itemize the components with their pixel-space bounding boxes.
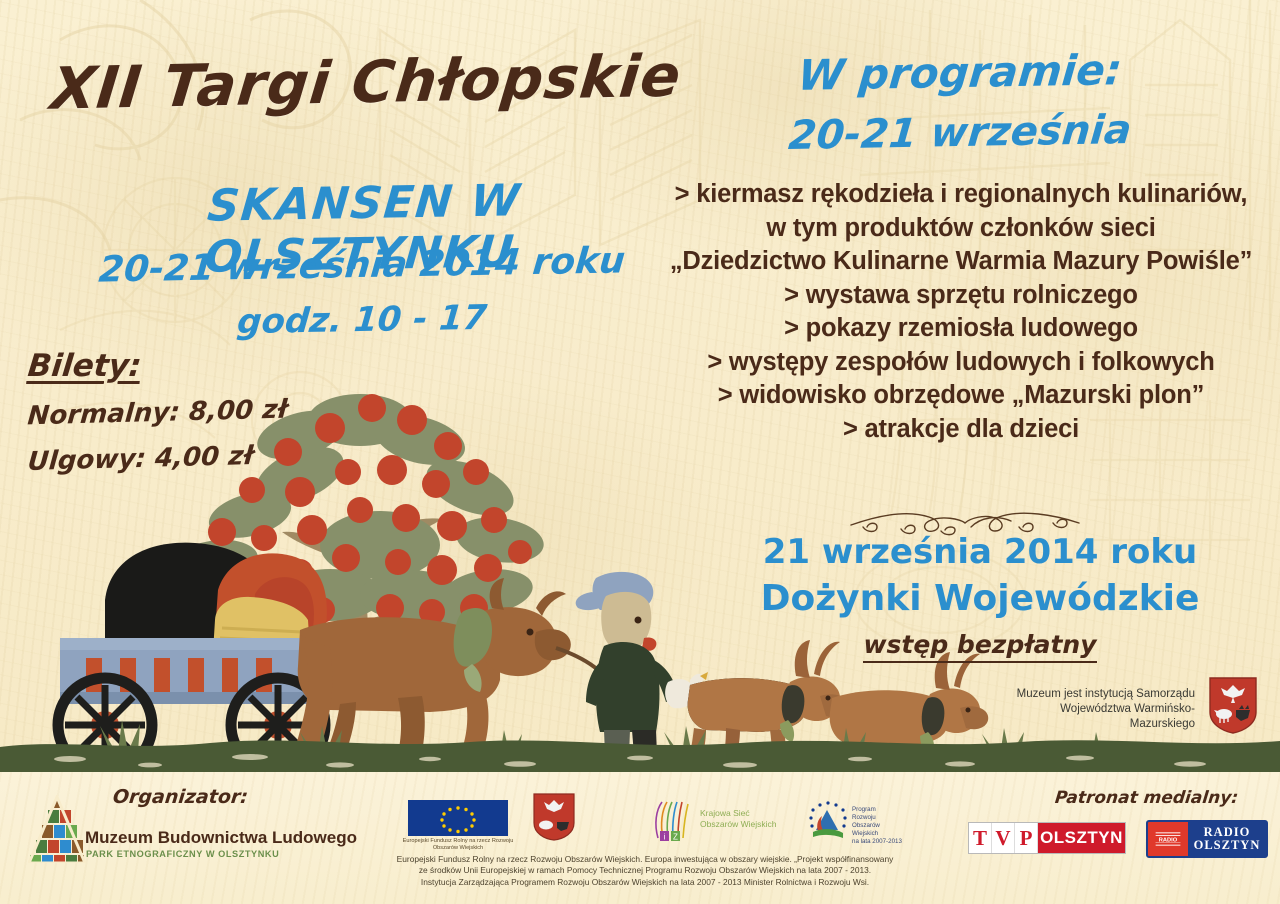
- free-entry-note: wstęp bezpłatny: [700, 630, 1260, 659]
- warmia-crest-footer-icon: [533, 793, 575, 841]
- institution-note: Muzeum jest instytucją Samorządu Wojewód…: [1005, 687, 1195, 732]
- program-item: > atrakcje dla dzieci: [655, 413, 1267, 447]
- program-list: > kiermasz rękodzieła i regionalnych kul…: [655, 178, 1267, 446]
- program-item: > pokazy rzemiosła ludowego: [655, 312, 1267, 346]
- program-item: > widowisko obrzędowe „Mazurski plon”: [655, 379, 1267, 413]
- prow-logo-icon: [805, 800, 849, 842]
- prow-line-3: Obszarów: [852, 822, 902, 830]
- prow-line-5: na lata 2007-2013: [852, 838, 902, 846]
- institution-line-1: Muzeum jest instytucją Samorządu: [1005, 687, 1195, 702]
- tvp-letter-t: T: [969, 823, 992, 853]
- radio-line-2: OLSZTYN: [1194, 839, 1261, 852]
- ticket-reduced-price: Ulgowy: 4,00 zł: [27, 441, 255, 477]
- museum-subtitle: PARK ETNOGRAFICZNY W OLSZTYNKU: [86, 849, 279, 859]
- program-item: w tym produktów członków sieci: [655, 212, 1267, 246]
- prow-line-4: Wiejskich: [852, 830, 902, 838]
- eu-disclaimer-line-1: Europejski Fundusz Rolny na rzecz Rozwoj…: [330, 854, 960, 865]
- radio-text: RADIO OLSZTYN: [1188, 822, 1266, 856]
- institution-line-2: Województwa Warmińsko-Mazurskiego: [1005, 702, 1195, 732]
- organizer-label: Organizator:: [112, 786, 249, 808]
- prow-label: Program Rozwoju Obszarów Wiejskich na la…: [852, 806, 902, 846]
- svg-text:RADIO: RADIO: [1159, 838, 1178, 844]
- program-item: > wystawa sprzętu rolniczego: [655, 279, 1267, 313]
- program-item: > kiermasz rękodzieła i regionalnych kul…: [655, 178, 1267, 212]
- eu-disclaimer-line-3: Instytucja Zarządzająca Programem Rozwoj…: [330, 877, 960, 888]
- ground-strip: [0, 735, 1280, 775]
- poster-root: XII Targi Chłopskie SKANSEN W OLSZTYNKU …: [0, 0, 1280, 904]
- radio-badge-icon: RADIO: [1148, 822, 1188, 856]
- ksow-line-1: Krajowa Sieć: [700, 808, 777, 819]
- free-entry-text: wstęp bezpłatny: [863, 630, 1096, 663]
- ksow-label: Krajowa Sieć Obszarów Wiejskich: [700, 808, 777, 830]
- eu-caption: Europejski Fundusz Rolny na rzecz Rozwoj…: [398, 838, 518, 852]
- tvp-letter-v: V: [992, 823, 1015, 853]
- eu-disclaimer-line-2: ze środków Unii Europejskiej w ramach Po…: [330, 865, 960, 876]
- eu-flag-icon: [408, 800, 508, 836]
- museum-logo-icon: [28, 795, 86, 863]
- museum-name: Muzeum Budownictwa Ludowego: [85, 828, 357, 848]
- prow-line-1: Program: [852, 806, 902, 814]
- ksow-logo-icon: i Z: [648, 798, 696, 842]
- warmia-mazury-crest-icon: [1208, 676, 1258, 734]
- svg-text:i: i: [664, 833, 666, 842]
- radio-olsztyn-logo[interactable]: RADIO RADIO OLSZTYN: [1146, 820, 1268, 858]
- program-item: „Dziedzictwo Kulinarne Warmia Mazury Pow…: [655, 245, 1267, 279]
- tvp-city-label: OLSZTYN: [1038, 823, 1125, 853]
- ksow-line-2: Obszarów Wiejskich: [700, 819, 777, 830]
- eu-funding-disclaimer: Europejski Fundusz Rolny na rzecz Rozwoj…: [330, 854, 960, 888]
- tvp-olsztyn-logo[interactable]: T V P OLSZTYN: [968, 822, 1126, 854]
- harvest-date: 21 września 2014 roku: [700, 532, 1260, 572]
- harvest-name: Dożynki Wojewódzkie: [700, 578, 1260, 619]
- patronage-label: Patronat medialny:: [1054, 788, 1239, 808]
- page-title: XII Targi Chłopskie: [48, 41, 696, 122]
- prow-line-2: Rozwoju: [852, 814, 902, 822]
- svg-text:Z: Z: [673, 833, 678, 842]
- tickets-heading: Bilety:: [26, 348, 143, 384]
- tvp-letter-p: P: [1015, 823, 1038, 853]
- program-item: > występy zespołów ludowych i folkowych: [655, 346, 1267, 380]
